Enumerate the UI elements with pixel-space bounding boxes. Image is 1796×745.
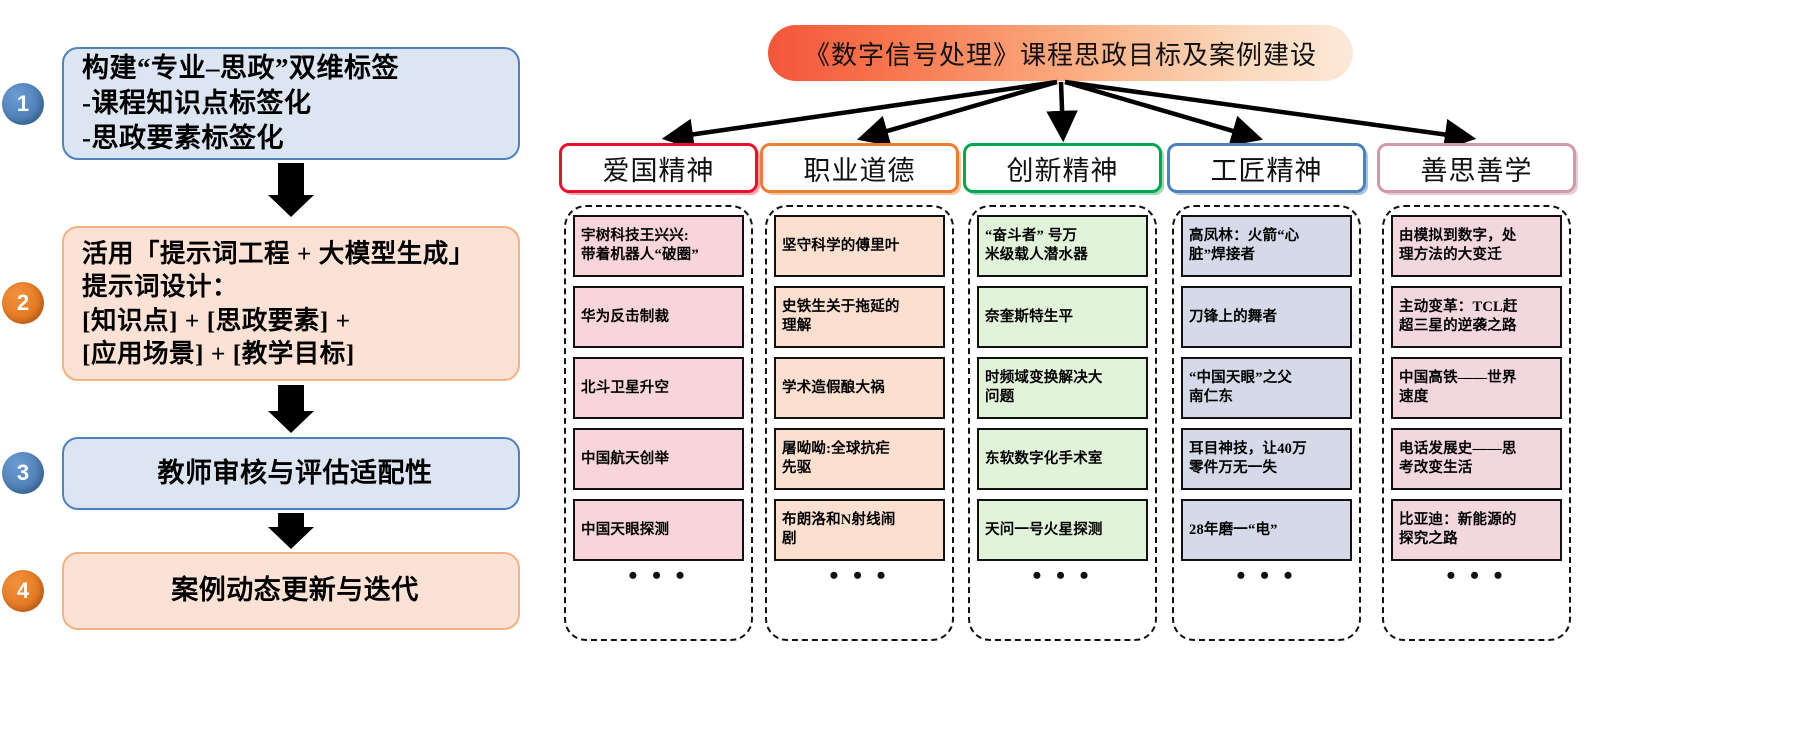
step-badge-3: 3 bbox=[2, 452, 44, 494]
flow-step-1-text: 构建“专业–思政”双维标签 -课程知识点标签化 -思政要素标签化 bbox=[82, 51, 399, 156]
category-header-chuangxin[interactable]: 创新精神 bbox=[963, 143, 1162, 193]
case-card[interactable]: 布朗洛和N射线闹 剧 bbox=[774, 499, 945, 561]
down-arrow-icon-1 bbox=[268, 163, 314, 217]
case-group-aiguo: 宇树科技王兴兴: 带着机器人“破圈” 华为反击制裁 北斗卫星升空 中国航天创举 … bbox=[564, 205, 753, 641]
category-label-gongjiang: 工匠精神 bbox=[1211, 149, 1323, 188]
case-card[interactable]: 中国高铁——世界 速度 bbox=[1391, 357, 1562, 419]
case-card[interactable]: 北斗卫星升空 bbox=[573, 357, 744, 419]
flow-step-3-text: 教师审核与评估适配性 bbox=[82, 456, 508, 491]
category-label-zhiye: 职业道德 bbox=[804, 149, 916, 188]
objectives-tree-panel: 《数字信号处理》课程思政目标及案例建设 爱国精神 宇树科技王兴兴: 带着机器人“… bbox=[545, 0, 1796, 745]
more-cases-ellipsis[interactable]: • • • bbox=[977, 568, 1148, 584]
case-card[interactable]: 宇树科技王兴兴: 带着机器人“破圈” bbox=[573, 215, 744, 277]
case-card[interactable]: 中国天眼探测 bbox=[573, 499, 744, 561]
down-arrow-icon-2 bbox=[268, 385, 314, 433]
case-card[interactable]: 时频域变换解决大 问题 bbox=[977, 357, 1148, 419]
case-group-shansi: 由模拟到数字，处 理方法的大变迁 主动变革：TCL赶 超三星的逆袭之路 中国高铁… bbox=[1382, 205, 1571, 641]
more-cases-ellipsis[interactable]: • • • bbox=[573, 568, 744, 584]
category-column-zhiye: 职业道德 坚守科学的傅里叶 史铁生关于拖延的 理解 学术造假酿大祸 屠呦呦:全球… bbox=[760, 143, 959, 193]
case-card[interactable]: 中国航天创举 bbox=[573, 428, 744, 490]
case-card[interactable]: 屠呦呦:全球抗疟 先驱 bbox=[774, 428, 945, 490]
category-column-chuangxin: 创新精神 “奋斗者” 号万 米级载人潜水器 奈奎斯特生平 时频域变换解决大 问题… bbox=[963, 143, 1162, 193]
case-group-chuangxin: “奋斗者” 号万 米级载人潜水器 奈奎斯特生平 时频域变换解决大 问题 东软数字… bbox=[968, 205, 1157, 641]
case-card[interactable]: 主动变革：TCL赶 超三星的逆袭之路 bbox=[1391, 286, 1562, 348]
step-badge-1: 1 bbox=[2, 83, 44, 125]
case-card[interactable]: 华为反击制裁 bbox=[573, 286, 744, 348]
category-header-gongjiang[interactable]: 工匠精神 bbox=[1167, 143, 1366, 193]
flow-step-2[interactable]: 活用「提示词工程 + 大模型生成」 提示词设计： [知识点] + [思政要素] … bbox=[62, 226, 520, 381]
category-column-aiguo: 爱国精神 宇树科技王兴兴: 带着机器人“破圈” 华为反击制裁 北斗卫星升空 中国… bbox=[559, 143, 758, 193]
down-arrow-icon-3 bbox=[268, 513, 314, 549]
flow-step-3[interactable]: 教师审核与评估适配性 bbox=[62, 437, 520, 510]
case-card[interactable]: 比亚迪：新能源的 探究之路 bbox=[1391, 499, 1562, 561]
flow-step-4[interactable]: 案例动态更新与迭代 bbox=[62, 552, 520, 630]
case-card[interactable]: 东软数字化手术室 bbox=[977, 428, 1148, 490]
case-card[interactable]: 由模拟到数字，处 理方法的大变迁 bbox=[1391, 215, 1562, 277]
category-header-shansi[interactable]: 善思善学 bbox=[1377, 143, 1576, 193]
case-card[interactable]: 学术造假酿大祸 bbox=[774, 357, 945, 419]
case-group-zhiye: 坚守科学的傅里叶 史铁生关于拖延的 理解 学术造假酿大祸 屠呦呦:全球抗疟 先驱… bbox=[765, 205, 954, 641]
step-badge-4: 4 bbox=[2, 570, 44, 612]
process-flow-panel: 1 构建“专业–思政”双维标签 -课程知识点标签化 -思政要素标签化 2 活用「… bbox=[0, 0, 545, 745]
tree-title-text: 《数字信号处理》课程思政目标及案例建设 bbox=[804, 35, 1317, 72]
tree-title-banner: 《数字信号处理》课程思政目标及案例建设 bbox=[768, 25, 1353, 81]
case-card[interactable]: 坚守科学的傅里叶 bbox=[774, 215, 945, 277]
flow-step-1[interactable]: 构建“专业–思政”双维标签 -课程知识点标签化 -思政要素标签化 bbox=[62, 47, 520, 160]
case-group-gongjiang: 高凤林：火箭“心 脏”焊接者 刀锋上的舞者 “中国天眼”之父 南仁东 耳目神技，… bbox=[1172, 205, 1361, 641]
flow-step-2-text: 活用「提示词工程 + 大模型生成」 提示词设计： [知识点] + [思政要素] … bbox=[82, 237, 475, 370]
category-label-shansi: 善思善学 bbox=[1421, 149, 1533, 188]
more-cases-ellipsis[interactable]: • • • bbox=[1181, 568, 1352, 584]
case-card[interactable]: 28年磨一“电” bbox=[1181, 499, 1352, 561]
case-card[interactable]: “奋斗者” 号万 米级载人潜水器 bbox=[977, 215, 1148, 277]
more-cases-ellipsis[interactable]: • • • bbox=[774, 568, 945, 584]
case-card[interactable]: 高凤林：火箭“心 脏”焊接者 bbox=[1181, 215, 1352, 277]
case-card[interactable]: 电话发展史——思 考改变生活 bbox=[1391, 428, 1562, 490]
category-header-aiguo[interactable]: 爱国精神 bbox=[559, 143, 758, 193]
step-badge-2: 2 bbox=[2, 282, 44, 324]
case-card[interactable]: 耳目神技，让40万 零件万无一失 bbox=[1181, 428, 1352, 490]
case-card[interactable]: 刀锋上的舞者 bbox=[1181, 286, 1352, 348]
case-card[interactable]: 天问一号火星探测 bbox=[977, 499, 1148, 561]
flow-step-4-text: 案例动态更新与迭代 bbox=[82, 573, 508, 608]
case-card[interactable]: “中国天眼”之父 南仁东 bbox=[1181, 357, 1352, 419]
case-card[interactable]: 史铁生关于拖延的 理解 bbox=[774, 286, 945, 348]
category-column-gongjiang: 工匠精神 高凤林：火箭“心 脏”焊接者 刀锋上的舞者 “中国天眼”之父 南仁东 … bbox=[1167, 143, 1366, 193]
category-label-aiguo: 爱国精神 bbox=[603, 149, 715, 188]
case-card[interactable]: 奈奎斯特生平 bbox=[977, 286, 1148, 348]
more-cases-ellipsis[interactable]: • • • bbox=[1391, 568, 1562, 584]
category-header-zhiye[interactable]: 职业道德 bbox=[760, 143, 959, 193]
category-label-chuangxin: 创新精神 bbox=[1007, 149, 1119, 188]
category-column-shansi: 善思善学 由模拟到数字，处 理方法的大变迁 主动变革：TCL赶 超三星的逆袭之路… bbox=[1377, 143, 1576, 193]
